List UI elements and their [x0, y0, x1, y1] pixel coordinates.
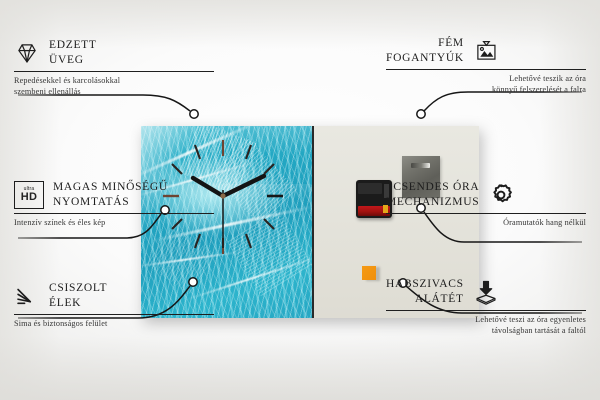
callout-divider [386, 69, 586, 70]
clock-center-cap [220, 193, 225, 198]
foam-spacer-icon [473, 279, 499, 305]
callout-metal-handles: FÉM FOGANTYÚK Lehetővé teszik az óra kön… [386, 36, 586, 95]
mechanism-plate [358, 183, 382, 194]
callout-title: MAGAS MINŐSÉGŰ NYOMTATÁS [53, 180, 168, 209]
clock-minute-hand [223, 176, 264, 196]
callout-divider [14, 314, 214, 315]
infographic-canvas: EDZETT ÜVEG Repedésekkel és karcolásokka… [0, 0, 600, 400]
gear-icon [488, 182, 514, 208]
callout-title: CSISZOLT ÉLEK [49, 281, 107, 310]
polished-edges-icon [14, 283, 40, 309]
callout-subtitle: Repedésekkel és karcolásokkal szembeni e… [14, 75, 214, 97]
callout-foam-spacer: HABSZIVACS ALÁTÉT Lehetővé teszi az óra … [386, 277, 586, 336]
diamond-icon [14, 40, 40, 66]
callout-subtitle: Óramutatók hang nélkül [386, 217, 586, 228]
callout-divider [386, 310, 586, 311]
callout-high-quality-print: ultra HD MAGAS MINŐSÉGŰ NYOMTATÁS Intenz… [14, 180, 214, 228]
picture-hanger-icon [473, 38, 499, 64]
callout-divider [14, 213, 214, 214]
callout-polished-edges: CSISZOLT ÉLEK Sima és biztonságos felüle… [14, 281, 214, 329]
callout-divider [386, 213, 586, 214]
callout-title: CSENDES ÓRA MECHANIZMUS [386, 180, 479, 209]
callout-tempered-glass: EDZETT ÜVEG Repedésekkel és karcolásokka… [14, 38, 214, 97]
callout-title: EDZETT ÜVEG [49, 38, 97, 67]
callout-subtitle: Sima és biztonságos felület [14, 318, 214, 329]
callout-subtitle: Lehetővé teszi az óra egyenletes távolsá… [386, 314, 586, 336]
callout-divider [14, 71, 214, 72]
ultra-hd-icon: ultra HD [14, 181, 44, 209]
callout-subtitle: Intenzív színek és éles kép [14, 217, 214, 228]
foam-spacer-pad [362, 266, 376, 280]
callout-silent-mechanism: CSENDES ÓRA MECHANIZMUS Óramutatók hang … [386, 180, 586, 228]
hanger-slot [411, 163, 430, 168]
callout-title: FÉM FOGANTYÚK [386, 36, 464, 65]
callout-title: HABSZIVACS ALÁTÉT [386, 277, 464, 306]
callout-subtitle: Lehetővé teszik az óra könnyű felszerelé… [386, 73, 586, 95]
ultra-hd-icon-big-text: HD [21, 192, 38, 203]
